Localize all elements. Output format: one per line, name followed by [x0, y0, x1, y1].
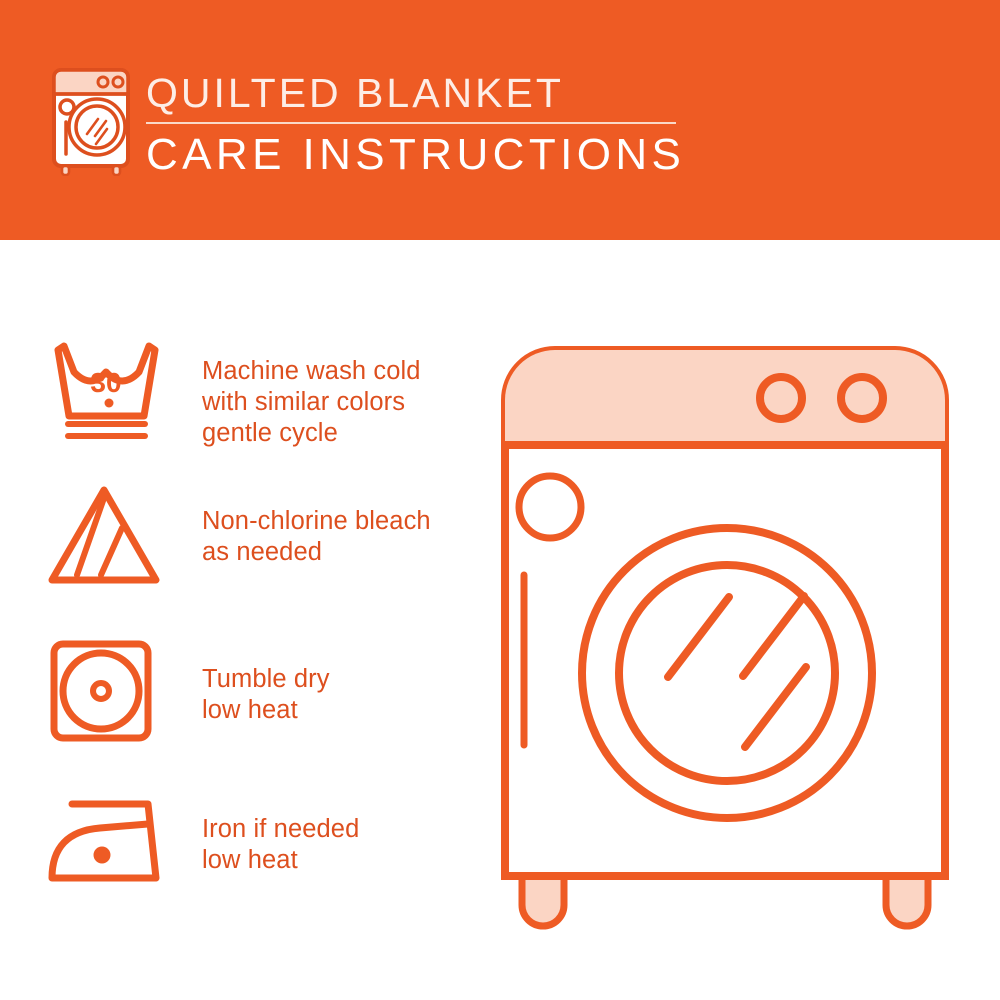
tumble-dry-low-icon: [44, 636, 174, 746]
washer-indicator-circle: [519, 476, 581, 538]
washing-machine-icon: [45, 64, 137, 176]
wash-temp-value: 30: [90, 367, 121, 398]
header-title-block: QUILTED BLANKET CARE INSTRUCTIONS: [146, 70, 746, 180]
care-item-label: Iron if needed low heat: [202, 814, 359, 876]
iron-low-heat-icon: [44, 792, 174, 902]
washer-knob-left: [760, 377, 802, 419]
header-banner: QUILTED BLANKET CARE INSTRUCTIONS: [0, 0, 1000, 240]
washer-knob-right: [841, 377, 883, 419]
page-title-secondary: CARE INSTRUCTIONS: [146, 130, 746, 180]
care-item-label: Tumble dry low heat: [202, 664, 330, 726]
care-item-label: Machine wash cold with similar colors ge…: [202, 356, 421, 449]
bleach-triangle-icon: [44, 482, 174, 592]
page-title-primary: QUILTED BLANKET: [146, 70, 746, 116]
front-load-washing-machine-illustration: [480, 325, 980, 945]
title-divider: [146, 122, 676, 124]
care-instructions-infographic: QUILTED BLANKET CARE INSTRUCTIONS 30 Mac…: [0, 0, 1000, 1000]
wash-tub-30-icon: 30: [44, 338, 174, 448]
care-instruction-list: 30 Machine wash cold with similar colors…: [0, 240, 470, 1000]
care-item-label: Non-chlorine bleach as needed: [202, 506, 431, 568]
